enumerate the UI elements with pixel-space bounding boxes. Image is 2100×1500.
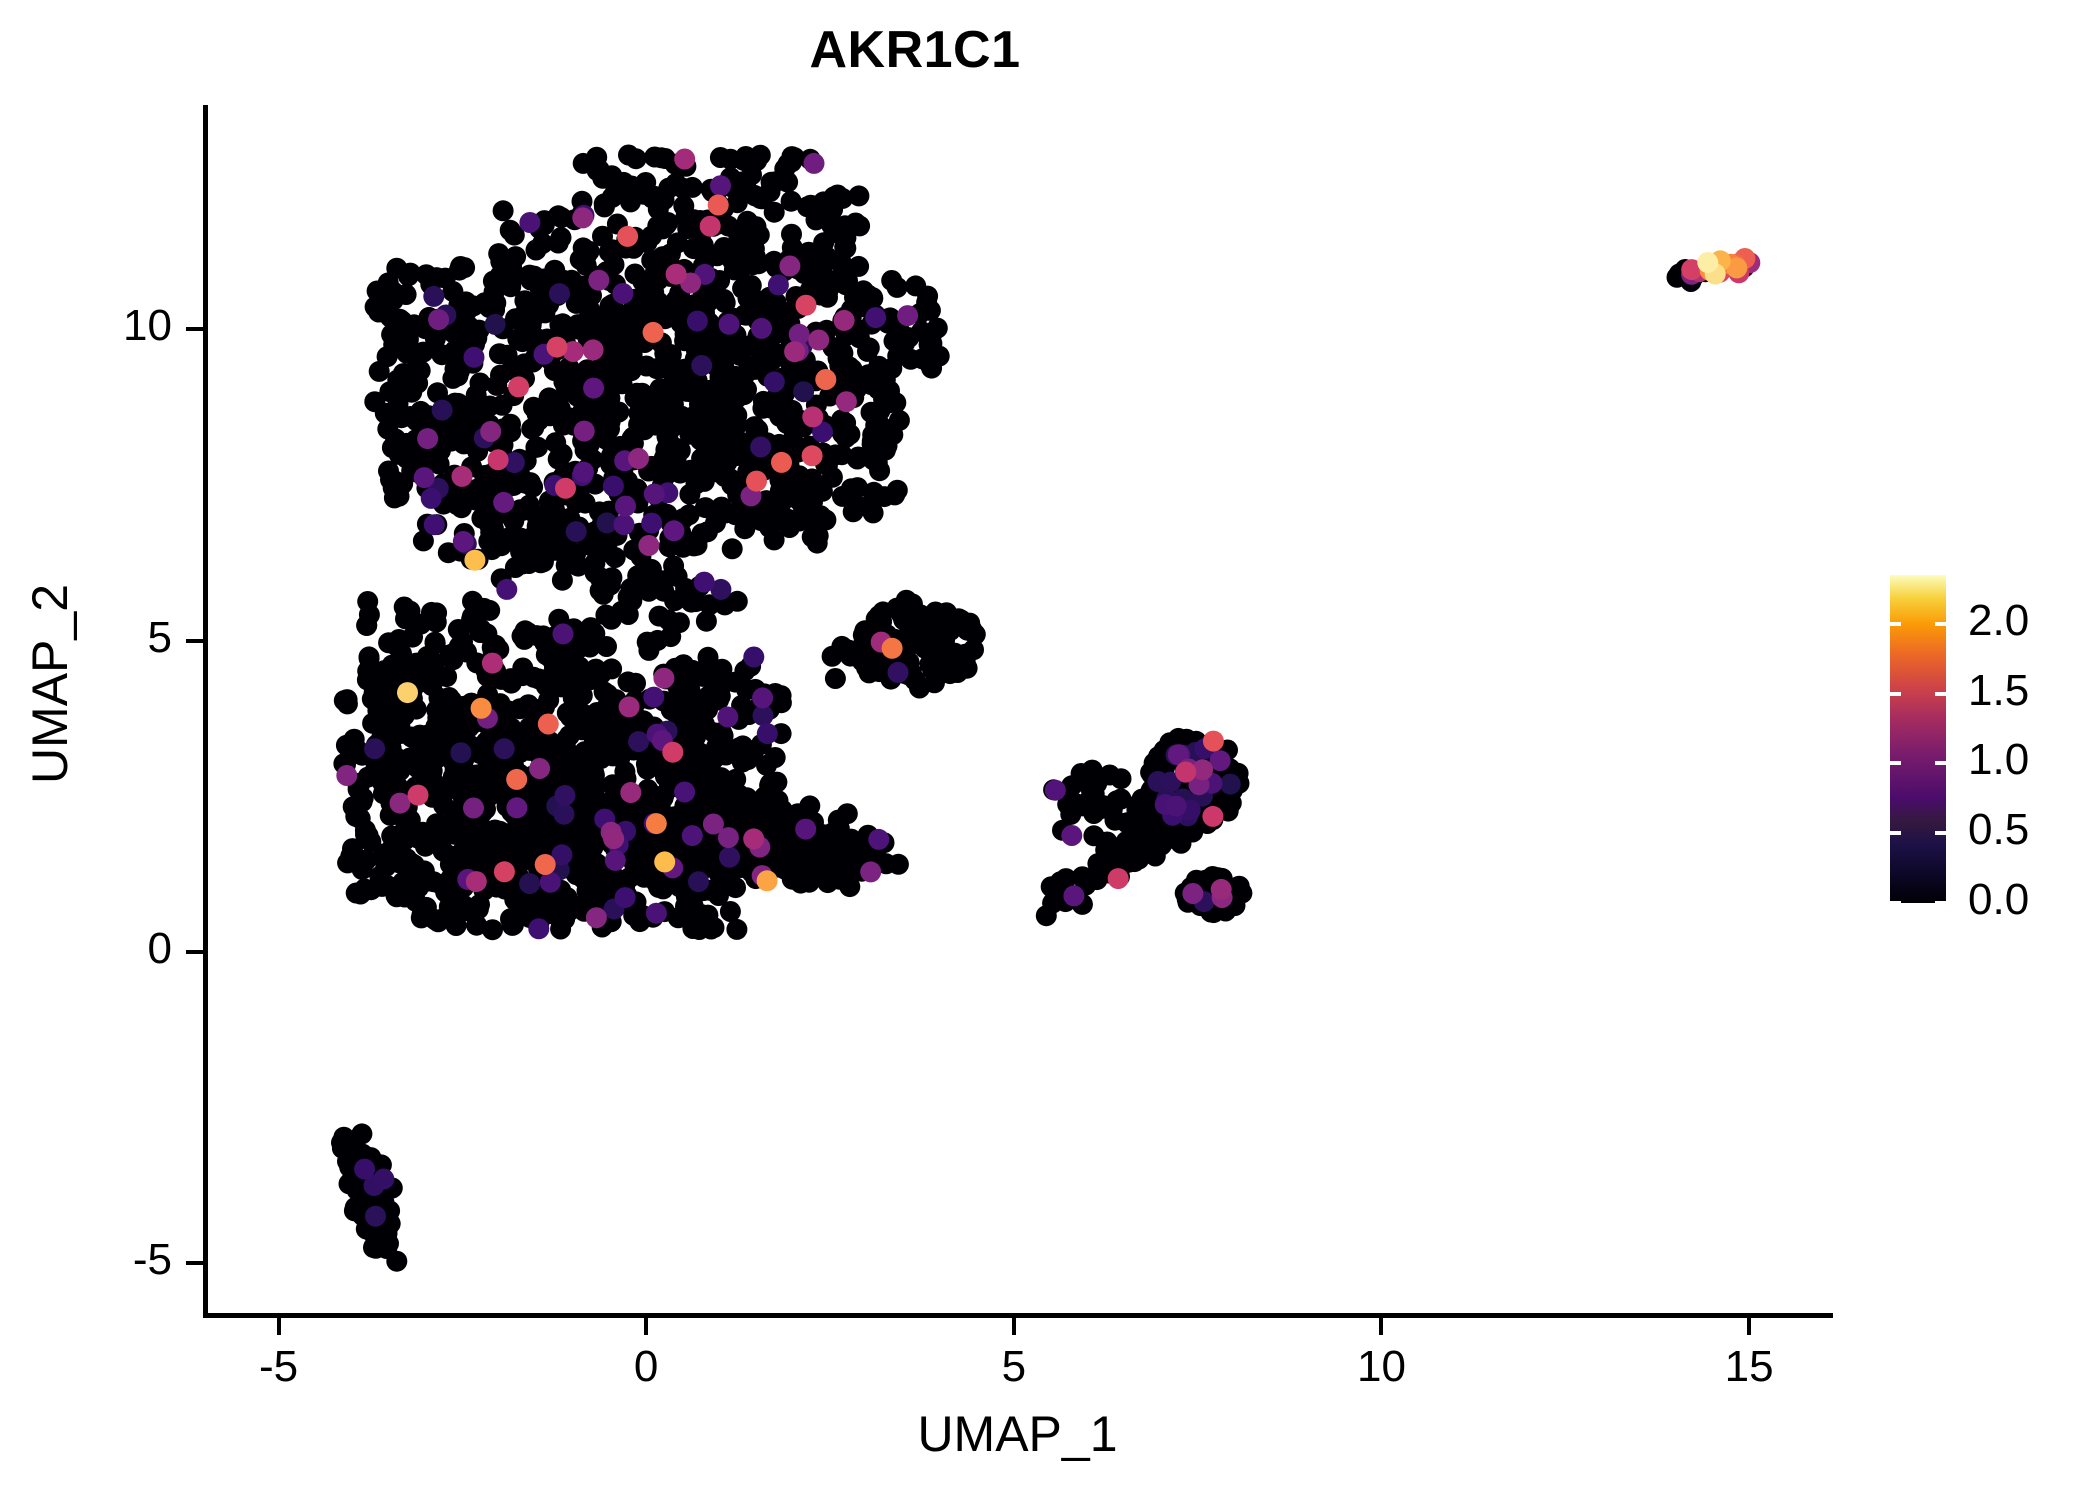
colorbar-tick-mark (1935, 692, 1946, 696)
colorbar-tick-mark (1890, 622, 1901, 626)
umap-feature-plot: AKR1C1 -5051015-50510 UMAP_1 UMAP_2 0.00… (0, 0, 2100, 1500)
colorbar-tick-label: 1.0 (1968, 735, 2029, 785)
colorbar-tick-mark (1890, 761, 1901, 765)
colorbar-tick-mark (1890, 831, 1901, 835)
colorbar-tick-label: 1.5 (1968, 666, 2029, 716)
colorbar-tick-label: 0.5 (1968, 805, 2029, 855)
page-title: AKR1C1 (0, 22, 1830, 79)
x-tick-mark (1012, 1318, 1016, 1335)
x-tick-mark (1379, 1318, 1383, 1335)
colorbar-legend: 0.00.51.01.52.0 (1890, 575, 2080, 915)
colorbar-tick-mark (1935, 622, 1946, 626)
y-axis-label: UMAP_2 (21, 334, 79, 1034)
colorbar-tick-label: 2.0 (1968, 596, 2029, 646)
colorbar-tick-mark (1935, 901, 1946, 905)
x-tick-label: 0 (546, 1342, 746, 1392)
x-tick-mark (277, 1318, 281, 1335)
x-axis-line (203, 1313, 1833, 1318)
scatter-points (205, 105, 1830, 1313)
x-axis-label: UMAP_1 (205, 1405, 1830, 1463)
x-tick-label: 5 (914, 1342, 1114, 1392)
colorbar-tick-mark (1890, 901, 1901, 905)
x-tick-label: 10 (1281, 1342, 1481, 1392)
colorbar-tick-mark (1890, 692, 1901, 696)
y-tick-label: -5 (0, 1235, 172, 1285)
plot-panel (205, 105, 1830, 1313)
y-tick-mark (186, 1261, 203, 1265)
colorbar-tick-mark (1935, 831, 1946, 835)
y-tick-mark (186, 639, 203, 643)
y-tick-mark (186, 950, 203, 954)
colorbar-gradient (1890, 575, 1946, 903)
x-tick-mark (644, 1318, 648, 1335)
colorbar-tick-mark (1935, 761, 1946, 765)
x-tick-label: 15 (1649, 1342, 1849, 1392)
x-tick-label: -5 (179, 1342, 379, 1392)
x-tick-mark (1747, 1318, 1751, 1335)
colorbar-tick-label: 0.0 (1968, 875, 2029, 925)
y-tick-mark (186, 327, 203, 331)
